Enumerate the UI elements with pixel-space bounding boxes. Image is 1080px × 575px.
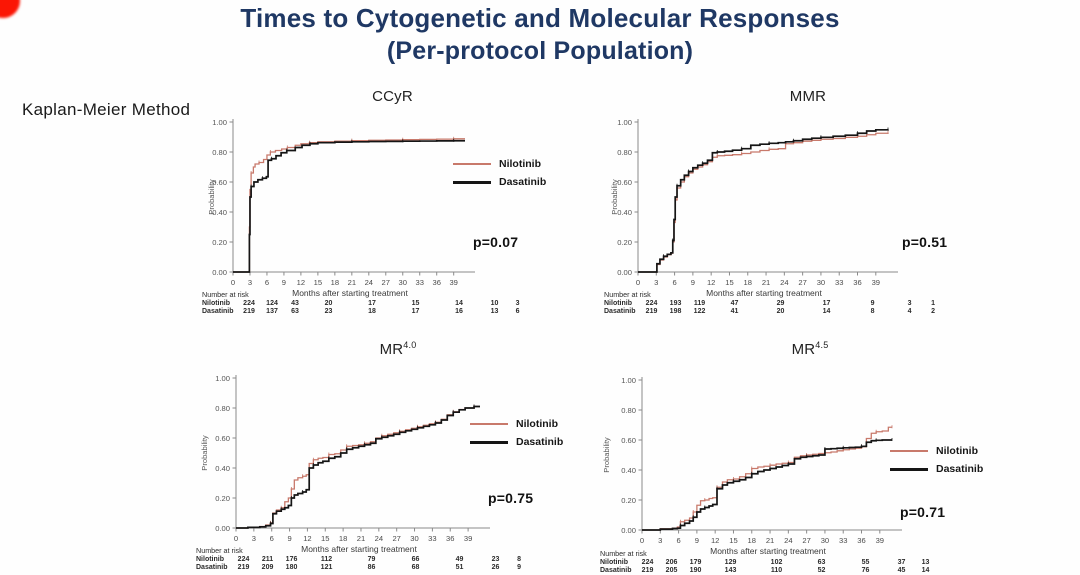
risk-cell: 198 [664, 308, 688, 317]
risk-cell: 219 [238, 308, 261, 317]
svg-text:27: 27 [382, 278, 390, 287]
risk-cell: 20 [758, 308, 804, 317]
risk-cell: 76 [844, 567, 888, 575]
svg-text:21: 21 [762, 278, 770, 287]
risk-cell: 2 [924, 308, 943, 317]
risk-cell: 143 [708, 567, 754, 575]
legend-label: Nilotinib [499, 158, 541, 170]
risk-cell: 55 [844, 559, 888, 568]
risk-cell: 9 [510, 564, 529, 573]
risk-table-row: Dasatinib219209180121866851269 [196, 564, 529, 573]
risk-row-label: Dasatinib [604, 308, 640, 317]
svg-text:3: 3 [654, 278, 658, 287]
risk-table-heading: Number at risk [600, 550, 936, 559]
chart-title-text: MMR [790, 88, 826, 105]
svg-text:18: 18 [339, 534, 347, 543]
chart-title-superscript: 4.0 [403, 340, 416, 350]
risk-cell: 47 [712, 300, 758, 309]
risk-cell: 224 [640, 300, 664, 309]
risk-table-heading: Number at risk [196, 547, 529, 556]
risk-cell: 121 [304, 564, 350, 573]
svg-text:15: 15 [321, 534, 329, 543]
plot-area-mr45: 0.000.200.400.600.801.000369121518212427… [600, 356, 906, 560]
legend-label: Nilotinib [516, 418, 558, 430]
svg-text:0.40: 0.40 [617, 208, 632, 217]
legend-swatch-nilotinib-icon [470, 423, 508, 425]
svg-text:0.80: 0.80 [215, 404, 230, 413]
risk-cell: 13 [481, 308, 509, 317]
p-value-ccyr: p=0.07 [473, 234, 518, 250]
legend-item-nilotinib: Nilotinib [453, 158, 546, 170]
risk-cell: 14 [804, 308, 850, 317]
risk-cell: 15 [394, 300, 438, 309]
svg-text:18: 18 [748, 536, 756, 545]
svg-text:0.80: 0.80 [617, 148, 632, 157]
risk-table-row: Dasatinib219198122412014842 [604, 308, 943, 317]
risk-cell: 23 [307, 308, 351, 317]
svg-text:21: 21 [766, 536, 774, 545]
svg-text:30: 30 [399, 278, 407, 287]
risk-cell: 122 [688, 308, 712, 317]
risk-table-ccyr: Number at riskNilotinib22412443201715141… [202, 291, 527, 317]
risk-cell: 190 [684, 567, 708, 575]
legend-label: Nilotinib [936, 445, 978, 457]
risk-cell: 110 [754, 567, 800, 575]
risk-table-heading: Number at risk [202, 291, 527, 300]
risk-cell: 37 [888, 559, 916, 568]
legend-item-nilotinib: Nilotinib [890, 445, 983, 457]
chart-panel-ccyr: CCyR0.000.200.400.600.801.00036912151821… [205, 88, 580, 328]
risk-cell: 66 [394, 556, 438, 565]
svg-text:1.00: 1.00 [621, 376, 636, 385]
risk-cell: 23 [482, 556, 510, 565]
svg-text:0.20: 0.20 [621, 496, 636, 505]
chart-title-superscript: 4.5 [815, 340, 828, 350]
y-axis-label: Probability [602, 437, 611, 473]
risk-table-mr40: Number at riskNilotinib22421117611279664… [196, 547, 529, 573]
risk-cell: 124 [261, 300, 284, 309]
censor-marks-dasatinib [680, 438, 892, 527]
risk-cell: 224 [636, 559, 660, 568]
risk-cell: 26 [482, 564, 510, 573]
svg-text:1.00: 1.00 [617, 118, 632, 127]
risk-row-label: Nilotinib [196, 556, 232, 565]
legend-swatch-dasatinib-icon [890, 468, 928, 471]
svg-text:0.20: 0.20 [212, 238, 227, 247]
risk-cell: 51 [438, 564, 482, 573]
risk-cell: 9 [850, 300, 896, 309]
risk-cell: 176 [280, 556, 304, 565]
risk-row-label: Dasatinib [196, 564, 232, 573]
risk-cell: 129 [708, 559, 754, 568]
curve-nilotinib [642, 427, 892, 530]
risk-cell: 193 [664, 300, 688, 309]
svg-text:33: 33 [428, 534, 436, 543]
svg-text:9: 9 [282, 278, 286, 287]
svg-text:0.60: 0.60 [215, 434, 230, 443]
chart-title-mmr: MMR [608, 88, 1008, 105]
censor-marks-nilotinib [271, 405, 475, 524]
curve-dasatinib [233, 141, 465, 272]
legend-item-nilotinib: Nilotinib [470, 418, 563, 430]
risk-cell: 3 [509, 300, 527, 309]
risk-cell: 209 [256, 564, 280, 573]
risk-row-label: Nilotinib [604, 300, 640, 309]
plot-area-mr40: 0.000.200.400.600.801.000369121518212427… [198, 356, 494, 558]
legend-label: Dasatinib [936, 463, 983, 475]
chart-panel-mr45: MR4.50.000.200.400.600.801.0003691215182… [600, 340, 1020, 575]
risk-table-row: Dasatinib2191376323181716136 [202, 308, 527, 317]
risk-cell: 180 [280, 564, 304, 573]
svg-text:0.00: 0.00 [617, 268, 632, 277]
svg-text:0: 0 [640, 536, 644, 545]
censor-marks-dasatinib [664, 128, 888, 258]
chart-legend-ccyr: NilotinibDasatinib [453, 158, 546, 194]
risk-cell: 79 [350, 556, 394, 565]
svg-text:39: 39 [876, 536, 884, 545]
slide-title: Times to Cytogenetic and Molecular Respo… [0, 2, 1080, 68]
legend-label: Dasatinib [516, 436, 563, 448]
legend-item-dasatinib: Dasatinib [890, 463, 983, 475]
curve-dasatinib [642, 440, 892, 530]
svg-text:0.40: 0.40 [215, 464, 230, 473]
svg-text:1.00: 1.00 [212, 118, 227, 127]
censor-marks-dasatinib [271, 405, 475, 525]
risk-cell: 14 [438, 300, 481, 309]
censor-marks-nilotinib [680, 425, 892, 523]
svg-text:3: 3 [248, 278, 252, 287]
y-axis-label: Probability [207, 179, 216, 215]
svg-text:33: 33 [835, 278, 843, 287]
risk-cell: 63 [800, 559, 844, 568]
svg-text:12: 12 [297, 278, 305, 287]
svg-text:36: 36 [432, 278, 440, 287]
svg-text:0.60: 0.60 [621, 436, 636, 445]
legend-label: Dasatinib [499, 176, 546, 188]
svg-text:30: 30 [410, 534, 418, 543]
risk-cell: 68 [394, 564, 438, 573]
svg-text:0.00: 0.00 [212, 268, 227, 277]
svg-text:18: 18 [744, 278, 752, 287]
svg-text:0: 0 [231, 278, 235, 287]
svg-text:6: 6 [270, 534, 274, 543]
plot-area-mmr: 0.000.200.400.600.801.000369121518212427… [608, 104, 902, 302]
risk-cell: 41 [712, 308, 758, 317]
risk-cell: 45 [888, 567, 916, 575]
legend-swatch-dasatinib-icon [470, 441, 508, 444]
risk-cell: 6 [509, 308, 527, 317]
svg-text:0.40: 0.40 [621, 466, 636, 475]
risk-table-row: Nilotinib2241244320171514103 [202, 300, 527, 309]
svg-text:15: 15 [725, 278, 733, 287]
svg-text:1.00: 1.00 [215, 374, 230, 383]
svg-text:39: 39 [449, 278, 457, 287]
svg-text:0.80: 0.80 [621, 406, 636, 415]
risk-cell: 1 [924, 300, 943, 309]
risk-cell: 3 [896, 300, 924, 309]
svg-text:9: 9 [691, 278, 695, 287]
svg-text:27: 27 [392, 534, 400, 543]
slide-canvas: Times to Cytogenetic and Molecular Respo… [0, 0, 1080, 575]
risk-table-grid: Nilotinib224193119472917931Dasatinib2191… [604, 300, 943, 317]
svg-text:3: 3 [658, 536, 662, 545]
risk-table-grid: Nilotinib2241244320171514103Dasatinib219… [202, 300, 527, 317]
risk-cell: 219 [232, 564, 256, 573]
svg-text:9: 9 [287, 534, 291, 543]
p-value-mmr: p=0.51 [902, 234, 947, 250]
risk-cell: 18 [351, 308, 394, 317]
curve-nilotinib [236, 407, 480, 529]
svg-text:6: 6 [672, 278, 676, 287]
svg-text:0.00: 0.00 [621, 526, 636, 535]
risk-cell: 205 [660, 567, 684, 575]
risk-cell: 8 [510, 556, 529, 565]
risk-table-row: Nilotinib224211176112796649238 [196, 556, 529, 565]
svg-text:0: 0 [234, 534, 238, 543]
risk-cell: 10 [481, 300, 509, 309]
svg-text:21: 21 [348, 278, 356, 287]
svg-text:24: 24 [784, 536, 792, 545]
risk-cell: 179 [684, 559, 708, 568]
plot-area-ccyr: 0.000.200.400.600.801.000369121518212427… [205, 104, 479, 302]
svg-text:12: 12 [711, 536, 719, 545]
svg-text:36: 36 [853, 278, 861, 287]
curve-dasatinib [236, 407, 480, 529]
risk-cell: 17 [351, 300, 394, 309]
risk-cell: 14 [916, 567, 936, 575]
legend-item-dasatinib: Dasatinib [453, 176, 546, 188]
risk-cell: 29 [758, 300, 804, 309]
svg-text:15: 15 [314, 278, 322, 287]
svg-text:0: 0 [636, 278, 640, 287]
svg-text:24: 24 [780, 278, 788, 287]
svg-text:9: 9 [695, 536, 699, 545]
chart-legend-mr40: NilotinibDasatinib [470, 418, 563, 454]
risk-cell: 211 [256, 556, 280, 565]
svg-text:0.60: 0.60 [617, 178, 632, 187]
risk-cell: 86 [350, 564, 394, 573]
legend-item-dasatinib: Dasatinib [470, 436, 563, 448]
legend-swatch-dasatinib-icon [453, 181, 491, 184]
risk-row-label: Nilotinib [202, 300, 238, 309]
svg-text:39: 39 [872, 278, 880, 287]
kaplan-meier-method-label: Kaplan-Meier Method [22, 100, 190, 120]
svg-text:0.80: 0.80 [212, 148, 227, 157]
risk-table-row: Nilotinib224193119472917931 [604, 300, 943, 309]
risk-cell: 137 [261, 308, 284, 317]
chart-panel-mmr: MMR0.000.200.400.600.801.000369121518212… [608, 88, 1008, 328]
legend-swatch-nilotinib-icon [890, 450, 928, 452]
risk-row-label: Dasatinib [202, 308, 238, 317]
svg-text:15: 15 [729, 536, 737, 545]
risk-cell: 4 [896, 308, 924, 317]
y-axis-label: Probability [610, 179, 619, 215]
p-value-mr45: p=0.71 [900, 504, 945, 520]
risk-cell: 224 [238, 300, 261, 309]
curve-nilotinib [233, 139, 465, 272]
svg-text:30: 30 [821, 536, 829, 545]
svg-text:30: 30 [817, 278, 825, 287]
svg-text:6: 6 [676, 536, 680, 545]
legend-swatch-nilotinib-icon [453, 163, 491, 165]
risk-table-mmr: Number at riskNilotinib22419311947291793… [604, 291, 943, 317]
svg-text:24: 24 [365, 278, 373, 287]
svg-text:39: 39 [464, 534, 472, 543]
chart-title-ccyr: CCyR [205, 88, 580, 105]
risk-table-grid: Nilotinib224211176112796649238Dasatinib2… [196, 556, 529, 573]
svg-text:33: 33 [839, 536, 847, 545]
svg-text:0.20: 0.20 [617, 238, 632, 247]
risk-table-mr45: Number at riskNilotinib22420617912910263… [600, 550, 936, 575]
risk-cell: 63 [284, 308, 307, 317]
chart-panel-mr40: MR4.00.000.200.400.600.801.0003691215182… [198, 340, 598, 575]
risk-cell: 224 [232, 556, 256, 565]
risk-cell: 43 [284, 300, 307, 309]
svg-text:6: 6 [265, 278, 269, 287]
svg-text:18: 18 [331, 278, 339, 287]
risk-cell: 52 [800, 567, 844, 575]
svg-text:27: 27 [798, 278, 806, 287]
risk-cell: 17 [394, 308, 438, 317]
risk-row-label: Dasatinib [600, 567, 636, 575]
censor-marks-dasatinib [251, 139, 454, 188]
title-line-2: (Per-protocol Population) [0, 34, 1080, 68]
risk-row-label: Nilotinib [600, 559, 636, 568]
risk-table-heading: Number at risk [604, 291, 943, 300]
risk-cell: 8 [850, 308, 896, 317]
risk-table-row: Dasatinib21920519014311052764514 [600, 567, 936, 575]
chart-legend-mr45: NilotinibDasatinib [890, 445, 983, 481]
p-value-mr40: p=0.75 [488, 490, 533, 506]
svg-text:21: 21 [357, 534, 365, 543]
risk-table-grid: Nilotinib22420617912910263553713Dasatini… [600, 559, 936, 575]
svg-text:0.20: 0.20 [215, 494, 230, 503]
risk-cell: 219 [636, 567, 660, 575]
risk-cell: 112 [304, 556, 350, 565]
risk-cell: 13 [916, 559, 936, 568]
svg-text:24: 24 [375, 534, 383, 543]
y-axis-label: Probability [200, 435, 209, 471]
risk-cell: 49 [438, 556, 482, 565]
risk-cell: 20 [307, 300, 351, 309]
svg-text:12: 12 [707, 278, 715, 287]
risk-cell: 102 [754, 559, 800, 568]
risk-cell: 119 [688, 300, 712, 309]
risk-cell: 16 [438, 308, 481, 317]
risk-cell: 206 [660, 559, 684, 568]
svg-text:0.00: 0.00 [215, 524, 230, 533]
svg-text:33: 33 [416, 278, 424, 287]
chart-title-text: CCyR [372, 88, 413, 105]
title-line-1: Times to Cytogenetic and Molecular Respo… [0, 2, 1080, 34]
svg-text:27: 27 [802, 536, 810, 545]
svg-text:3: 3 [252, 534, 256, 543]
svg-text:12: 12 [303, 534, 311, 543]
risk-table-row: Nilotinib22420617912910263553713 [600, 559, 936, 568]
risk-cell: 17 [804, 300, 850, 309]
svg-text:36: 36 [857, 536, 865, 545]
risk-cell: 219 [640, 308, 664, 317]
svg-text:36: 36 [446, 534, 454, 543]
